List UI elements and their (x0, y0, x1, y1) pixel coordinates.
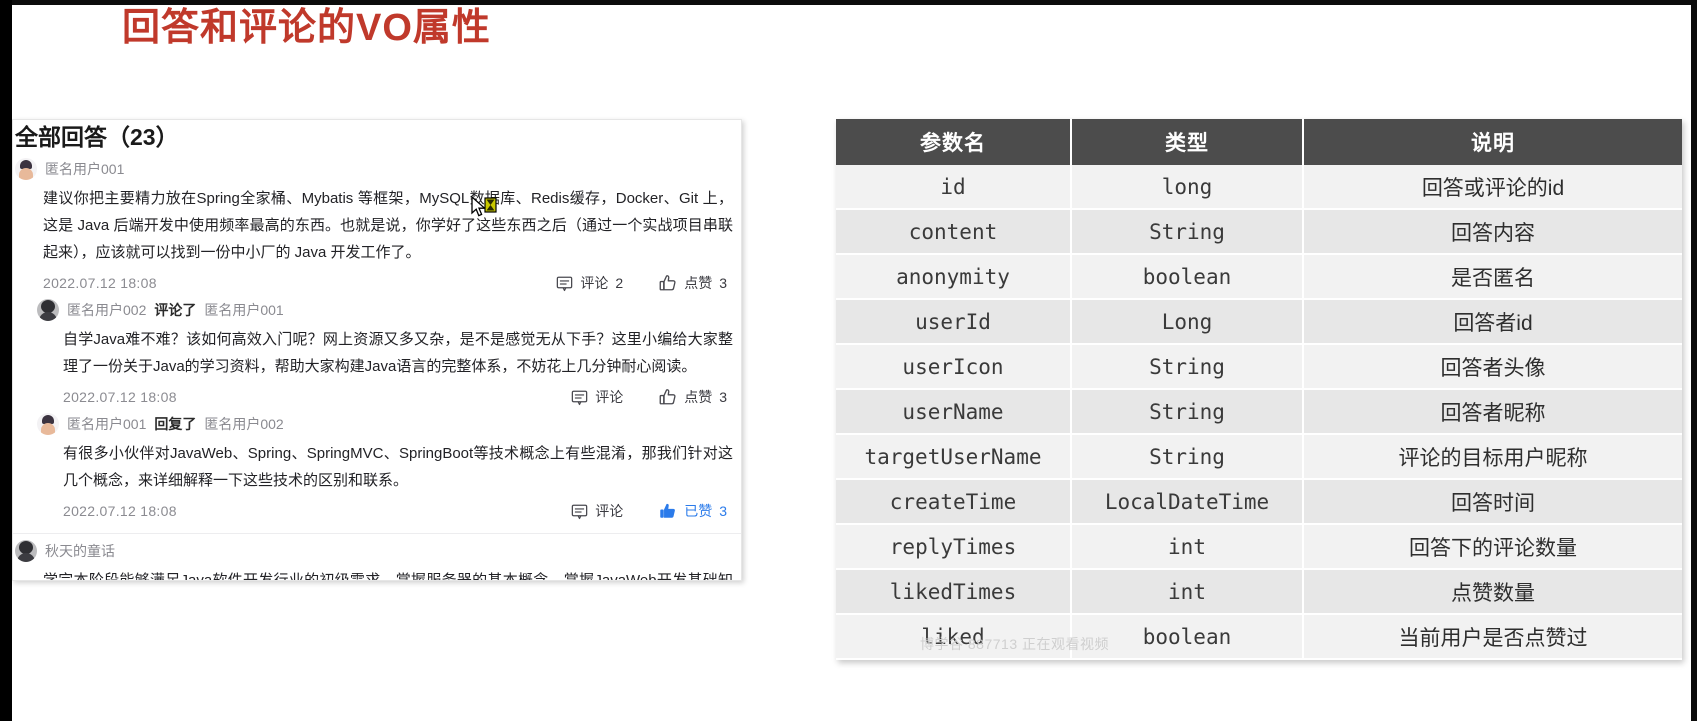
comment-button[interactable]: 评论2 (556, 273, 623, 293)
answer-user-row: 匿名用户001 (15, 156, 733, 182)
table-row: anonymityboolean是否匿名 (836, 255, 1682, 300)
like-label: 已赞 (684, 501, 712, 521)
cell-param-name: createTime (836, 480, 1072, 525)
like-count: 3 (719, 389, 727, 405)
like-count: 3 (719, 275, 727, 291)
table-row: likedTimesint点赞数量 (836, 570, 1682, 615)
cell-type: int (1072, 570, 1304, 615)
left-edge-strip (0, 0, 12, 721)
answers-card: 全部回答（23） 匿名用户001建议你把主要精力放在Spring全家桶、Myba… (12, 119, 742, 581)
table-row: targetUserNameString评论的目标用户昵称 (836, 435, 1682, 480)
slide-canvas: 回答和评论的VO属性 全部回答（23） 匿名用户001建议你把主要精力放在Spr… (0, 0, 1697, 721)
cell-type: String (1072, 435, 1304, 480)
answer-timestamp: 2022.07.12 18:08 (63, 503, 177, 519)
comment-button[interactable]: 评论 (571, 387, 623, 407)
comment-icon (571, 389, 588, 406)
avatar-cartoon-icon[interactable] (15, 158, 37, 180)
cell-param-name: userName (836, 390, 1072, 435)
like-button[interactable]: 点赞3 (659, 273, 727, 293)
comment-count: 2 (615, 275, 623, 291)
answer-meta-row: 2022.07.12 18:08评论2点赞3 (15, 269, 733, 297)
answer-body-text: 有很多小伙伴对JavaWeb、Spring、SpringMVC、SpringBo… (37, 437, 733, 494)
answer-timestamp: 2022.07.12 18:08 (43, 275, 157, 291)
cell-param-name: id (836, 165, 1072, 210)
cell-description: 回答内容 (1304, 210, 1682, 255)
answer-user-name[interactable]: 匿名用户001 (67, 414, 146, 434)
answers-list: 匿名用户001建议你把主要精力放在Spring全家桶、Mybatis 等框架，M… (13, 156, 741, 581)
answer-reply-item: 匿名用户002评论了匿名用户001自学Java难不难？该如何高效入门呢？网上资源… (13, 297, 741, 411)
comment-icon (556, 275, 573, 292)
cell-param-name: userId (836, 300, 1072, 345)
cell-param-name: replyTimes (836, 525, 1072, 570)
table-row: replyTimesint回答下的评论数量 (836, 525, 1682, 570)
answers-heading: 全部回答（23） (13, 120, 741, 156)
cell-type: LocalDateTime (1072, 480, 1304, 525)
comment-label: 评论 (595, 501, 623, 521)
like-button[interactable]: 点赞3 (659, 387, 727, 407)
answer-timestamp: 2022.07.12 18:08 (63, 389, 177, 405)
answer-user-name[interactable]: 匿名用户001 (45, 159, 124, 179)
answer-target-user-name[interactable]: 匿名用户001 (204, 300, 283, 320)
column-header-description: 说明 (1304, 119, 1682, 165)
answer-body-text: 自学Java难不难？该如何高效入门呢？网上资源又多又杂，是不是感觉无从下手？这里… (37, 323, 733, 380)
answer-actions: 评论已赞3 (571, 501, 733, 521)
thumbs-up-icon (659, 388, 677, 406)
cell-description: 回答时间 (1304, 480, 1682, 525)
cell-description: 评论的目标用户昵称 (1304, 435, 1682, 480)
table-row: userIconString回答者头像 (836, 345, 1682, 390)
avatar-photo-icon[interactable] (37, 299, 59, 321)
thumbs-up-icon (659, 274, 677, 292)
cell-type: long (1072, 165, 1304, 210)
cell-param-name: userIcon (836, 345, 1072, 390)
cell-description: 回答或评论的id (1304, 165, 1682, 210)
like-label: 点赞 (684, 387, 712, 407)
cell-description: 点赞数量 (1304, 570, 1682, 615)
table-row: createTimeLocalDateTime回答时间 (836, 480, 1682, 525)
answer-item: 秋天的童话学完本阶段能够满足Java软件开发行业的初级需求，掌握服务器的基本概念… (13, 538, 741, 581)
liked-button[interactable]: 已赞3 (659, 501, 727, 521)
column-header-param-name: 参数名 (836, 119, 1072, 165)
table-body: idlong回答或评论的idcontentString回答内容anonymity… (836, 165, 1682, 660)
table-header: 参数名 类型 说明 (836, 119, 1682, 165)
avatar-cartoon-icon[interactable] (37, 413, 59, 435)
answer-relation-verb: 评论了 (154, 300, 196, 320)
cell-description: 当前用户是否点赞过 (1304, 615, 1682, 660)
cell-param-name: likedTimes (836, 570, 1072, 615)
answer-body-text: 建议你把主要精力放在Spring全家桶、Mybatis 等框架，MySQL数据库… (15, 182, 733, 266)
cell-description: 回答者头像 (1304, 345, 1682, 390)
cell-type: Long (1072, 300, 1304, 345)
answer-user-name[interactable]: 秋天的童话 (45, 541, 115, 561)
cell-description: 是否匿名 (1304, 255, 1682, 300)
comment-label: 评论 (580, 273, 608, 293)
answer-divider (13, 533, 741, 534)
cell-param-name: anonymity (836, 255, 1072, 300)
answer-user-row: 匿名用户002评论了匿名用户001 (37, 297, 733, 323)
right-edge-strip (1691, 0, 1697, 721)
cell-param-name: content (836, 210, 1072, 255)
answer-relation-verb: 回复了 (154, 414, 196, 434)
answer-meta-row: 2022.07.12 18:08评论点赞3 (37, 383, 733, 411)
column-header-type: 类型 (1072, 119, 1304, 165)
comment-button[interactable]: 评论 (571, 501, 623, 521)
answer-body-text: 学完本阶段能够满足Java软件开发行业的初级需求，掌握服务器的基本概念，掌握Ja… (15, 564, 733, 581)
table-row: userIdLong回答者id (836, 300, 1682, 345)
answer-actions: 评论2点赞3 (556, 273, 733, 293)
answer-meta-row: 2022.07.12 18:08评论已赞3 (37, 497, 733, 525)
page-title: 回答和评论的VO属性 (122, 2, 491, 54)
like-label: 点赞 (684, 273, 712, 293)
answer-user-row: 匿名用户001回复了匿名用户002 (37, 411, 733, 437)
table-row: idlong回答或评论的id (836, 165, 1682, 210)
table-row: contentString回答内容 (836, 210, 1682, 255)
cell-type: String (1072, 345, 1304, 390)
cell-type: String (1072, 390, 1304, 435)
avatar-photo-icon[interactable] (15, 540, 37, 562)
like-count: 3 (719, 503, 727, 519)
cell-description: 回答者昵称 (1304, 390, 1682, 435)
answer-item: 匿名用户001建议你把主要精力放在Spring全家桶、Mybatis 等框架，M… (13, 156, 741, 297)
vo-attribute-table: 参数名 类型 说明 idlong回答或评论的idcontentString回答内… (836, 119, 1682, 660)
table-row: userNameString回答者昵称 (836, 390, 1682, 435)
cell-description: 回答者id (1304, 300, 1682, 345)
cell-type: boolean (1072, 255, 1304, 300)
table-row: likedboolean当前用户是否点赞过 (836, 615, 1682, 660)
cell-description: 回答下的评论数量 (1304, 525, 1682, 570)
cell-type: String (1072, 210, 1304, 255)
answer-reply-item: 匿名用户001回复了匿名用户002有很多小伙伴对JavaWeb、Spring、S… (13, 411, 741, 525)
answer-user-name[interactable]: 匿名用户002 (67, 300, 146, 320)
comment-label: 评论 (595, 387, 623, 407)
cell-type: int (1072, 525, 1304, 570)
comment-icon (571, 503, 588, 520)
answer-user-row: 秋天的童话 (15, 538, 733, 564)
table-header-row: 参数名 类型 说明 (836, 119, 1682, 165)
cell-param-name: targetUserName (836, 435, 1072, 480)
answer-actions: 评论点赞3 (571, 387, 733, 407)
cell-param-name: liked (836, 615, 1072, 660)
thumbs-up-filled-icon (659, 502, 677, 520)
answer-target-user-name[interactable]: 匿名用户002 (204, 414, 283, 434)
cell-type: boolean (1072, 615, 1304, 660)
